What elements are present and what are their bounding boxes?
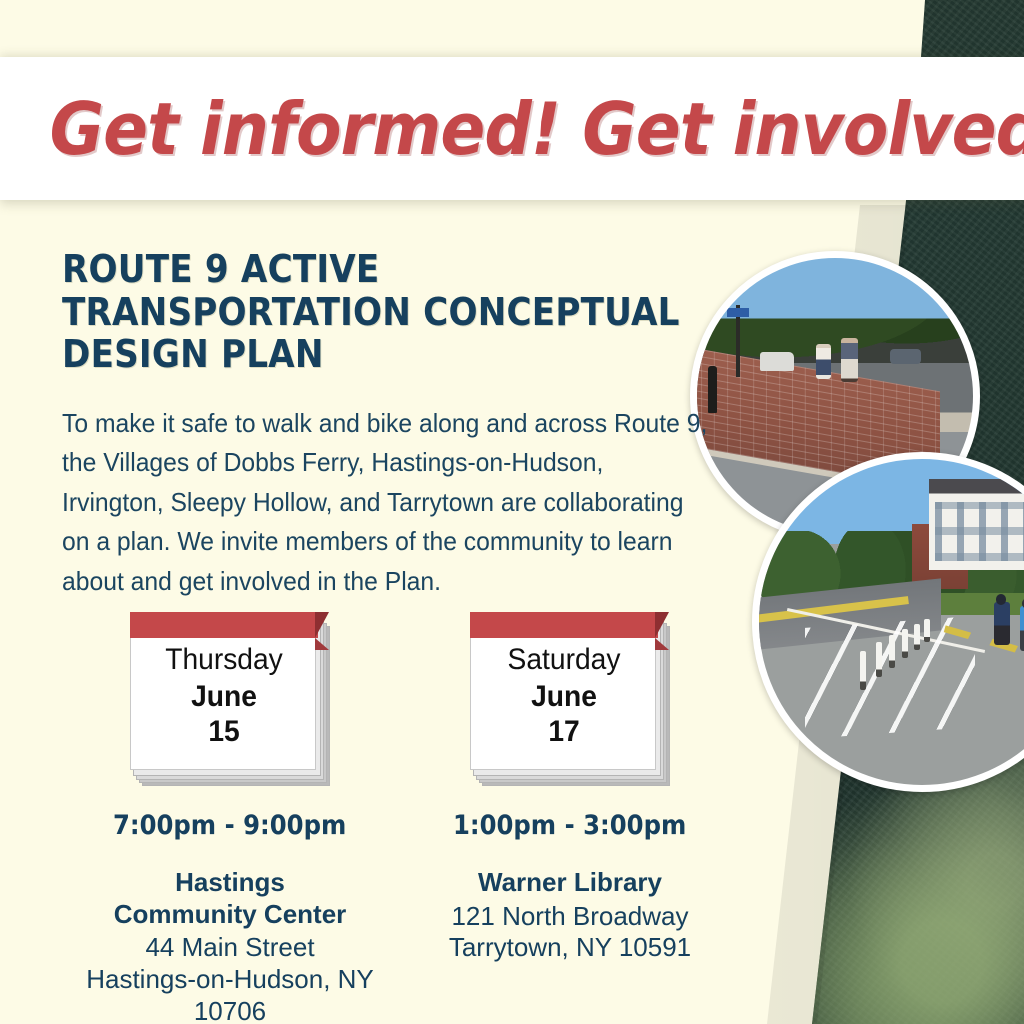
event-venue: Hastings Community Center 44 Main Street…: [60, 867, 400, 1024]
calendar-card: Thursday June 15: [130, 612, 316, 770]
calendar-red-header: [470, 612, 658, 638]
calendar-fold-corner-icon: [655, 638, 669, 650]
venue-name: Hastings Community Center: [60, 867, 400, 930]
cyclist: [1020, 606, 1024, 652]
calendar-month: June: [137, 679, 312, 714]
event-item: Thursday June 15 7:00pm - 9:00pm Hasting…: [60, 612, 400, 1024]
calendar-red-header: [130, 612, 318, 638]
cyclist-helmet: [996, 594, 1006, 604]
page-title: ROUTE 9 ACTIVE TRANSPORTATION CONCEPTUAL…: [62, 248, 701, 376]
events-row: Thursday June 15 7:00pm - 9:00pm Hasting…: [60, 612, 740, 1024]
delineator-post: [914, 624, 920, 650]
bollard: [708, 366, 717, 413]
event-item: Saturday June 17 1:00pm - 3:00pm Warner …: [400, 612, 740, 1024]
headline-text: Get informed! Get involved!: [0, 57, 942, 200]
calendar-fold-corner-icon: [315, 638, 329, 650]
delineator-post: [860, 651, 866, 690]
calendar-weekday: Thursday: [137, 641, 312, 679]
calendar-icon: Thursday June 15: [130, 612, 330, 788]
pedestrian-woman: [816, 344, 831, 380]
body-paragraph: To make it safe to walk and bike along a…: [62, 404, 708, 602]
delineator-post: [889, 635, 895, 668]
calendar-day: 17: [477, 714, 652, 749]
delineator-post: [876, 642, 882, 678]
event-time: 1:00pm - 3:00pm: [453, 810, 686, 841]
main-content: ROUTE 9 ACTIVE TRANSPORTATION CONCEPTUAL…: [62, 248, 702, 601]
calendar-date-text: Thursday June 15: [131, 641, 317, 749]
white-building: [929, 479, 1024, 570]
parked-car: [890, 349, 920, 364]
pedestrian-man: [841, 338, 859, 382]
delineator-post: [902, 629, 908, 658]
delineator-post: [924, 619, 930, 642]
event-venue: Warner Library 121 North Broadway Tarryt…: [449, 867, 691, 964]
parked-suv: [760, 352, 793, 371]
venue-address: 121 North Broadway Tarrytown, NY 10591: [449, 901, 691, 964]
calendar-day: 15: [137, 714, 312, 749]
street-sign: [727, 308, 749, 317]
calendar-fold-corner-icon: [315, 612, 329, 638]
calendar-icon: Saturday June 17: [470, 612, 670, 788]
event-time: 7:00pm - 9:00pm: [113, 810, 346, 841]
venue-name: Warner Library: [449, 867, 691, 899]
calendar-month: June: [477, 679, 652, 714]
poster-root: Get informed! Get involved!: [0, 0, 1024, 1024]
calendar-weekday: Saturday: [477, 641, 652, 679]
calendar-card: Saturday June 17: [470, 612, 656, 770]
cyclist: [994, 602, 1010, 644]
venue-address: 44 Main Street Hastings-on-Hudson, NY 10…: [60, 932, 400, 1024]
calendar-fold-corner-icon: [655, 612, 669, 638]
calendar-date-text: Saturday June 17: [471, 641, 657, 749]
